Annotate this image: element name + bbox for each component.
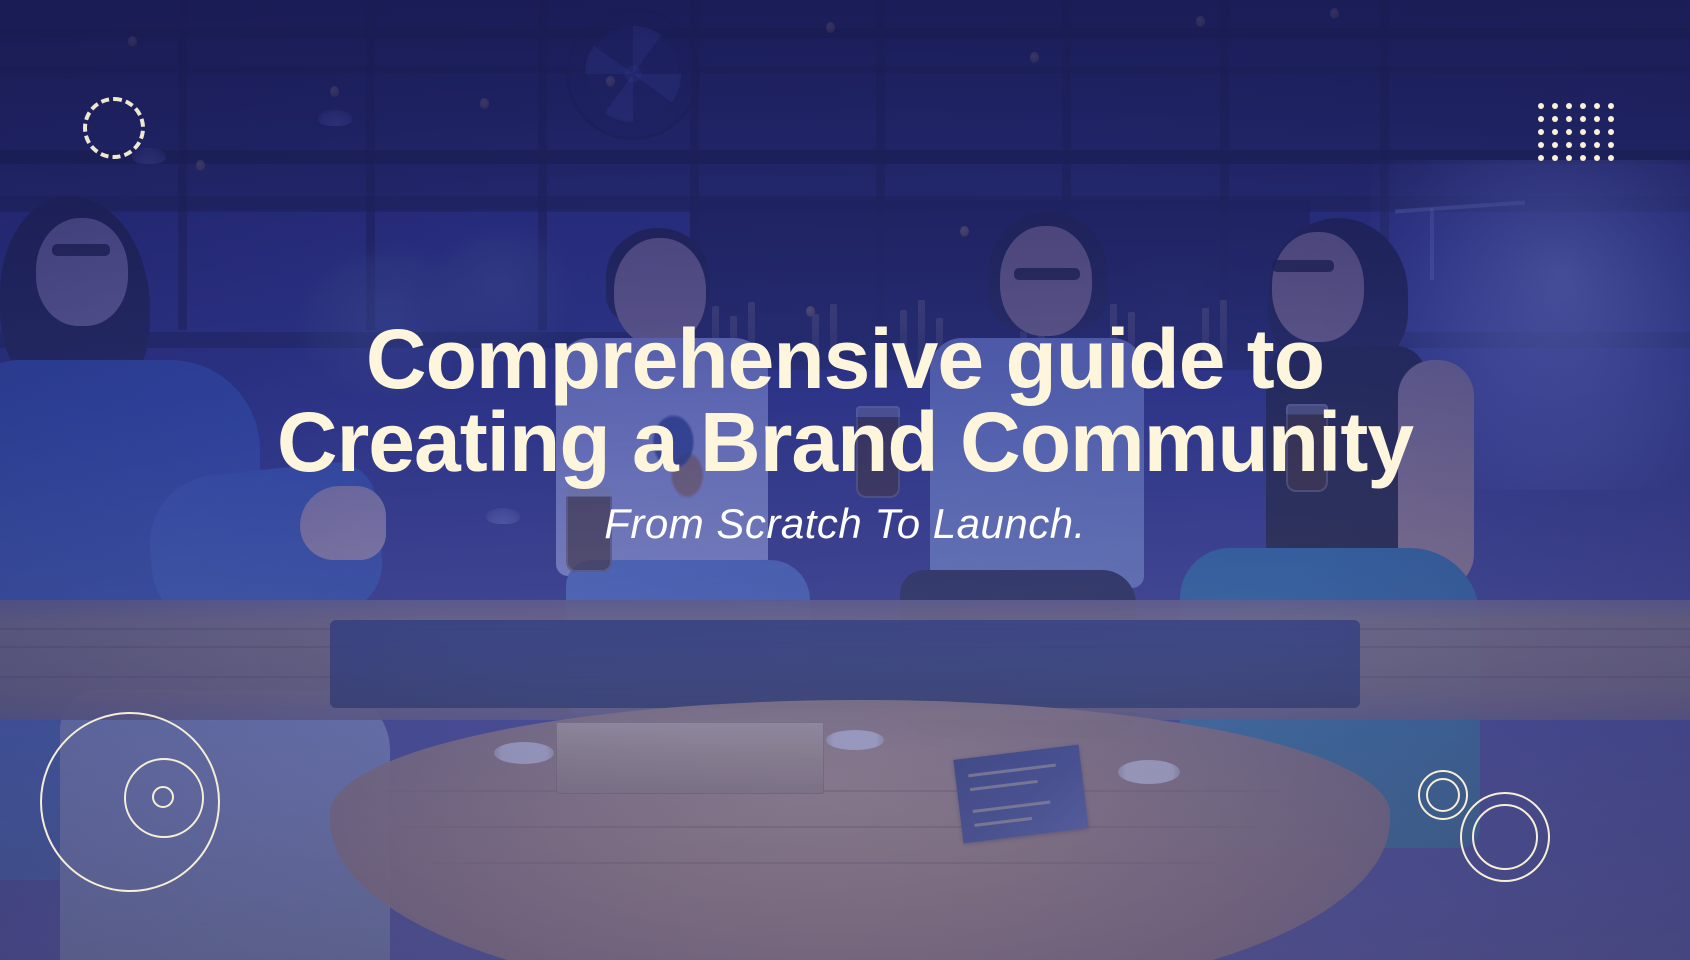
page-subtitle: From Scratch To Launch.	[604, 500, 1086, 548]
hero-banner: Comprehensive guide to Creating a Brand …	[0, 0, 1690, 960]
headline-line-2: Creating a Brand Community	[277, 401, 1413, 484]
page-title: Comprehensive guide to Creating a Brand …	[277, 318, 1413, 484]
hero-content: Comprehensive guide to Creating a Brand …	[0, 0, 1690, 960]
headline-line-1: Comprehensive guide to	[277, 318, 1413, 401]
